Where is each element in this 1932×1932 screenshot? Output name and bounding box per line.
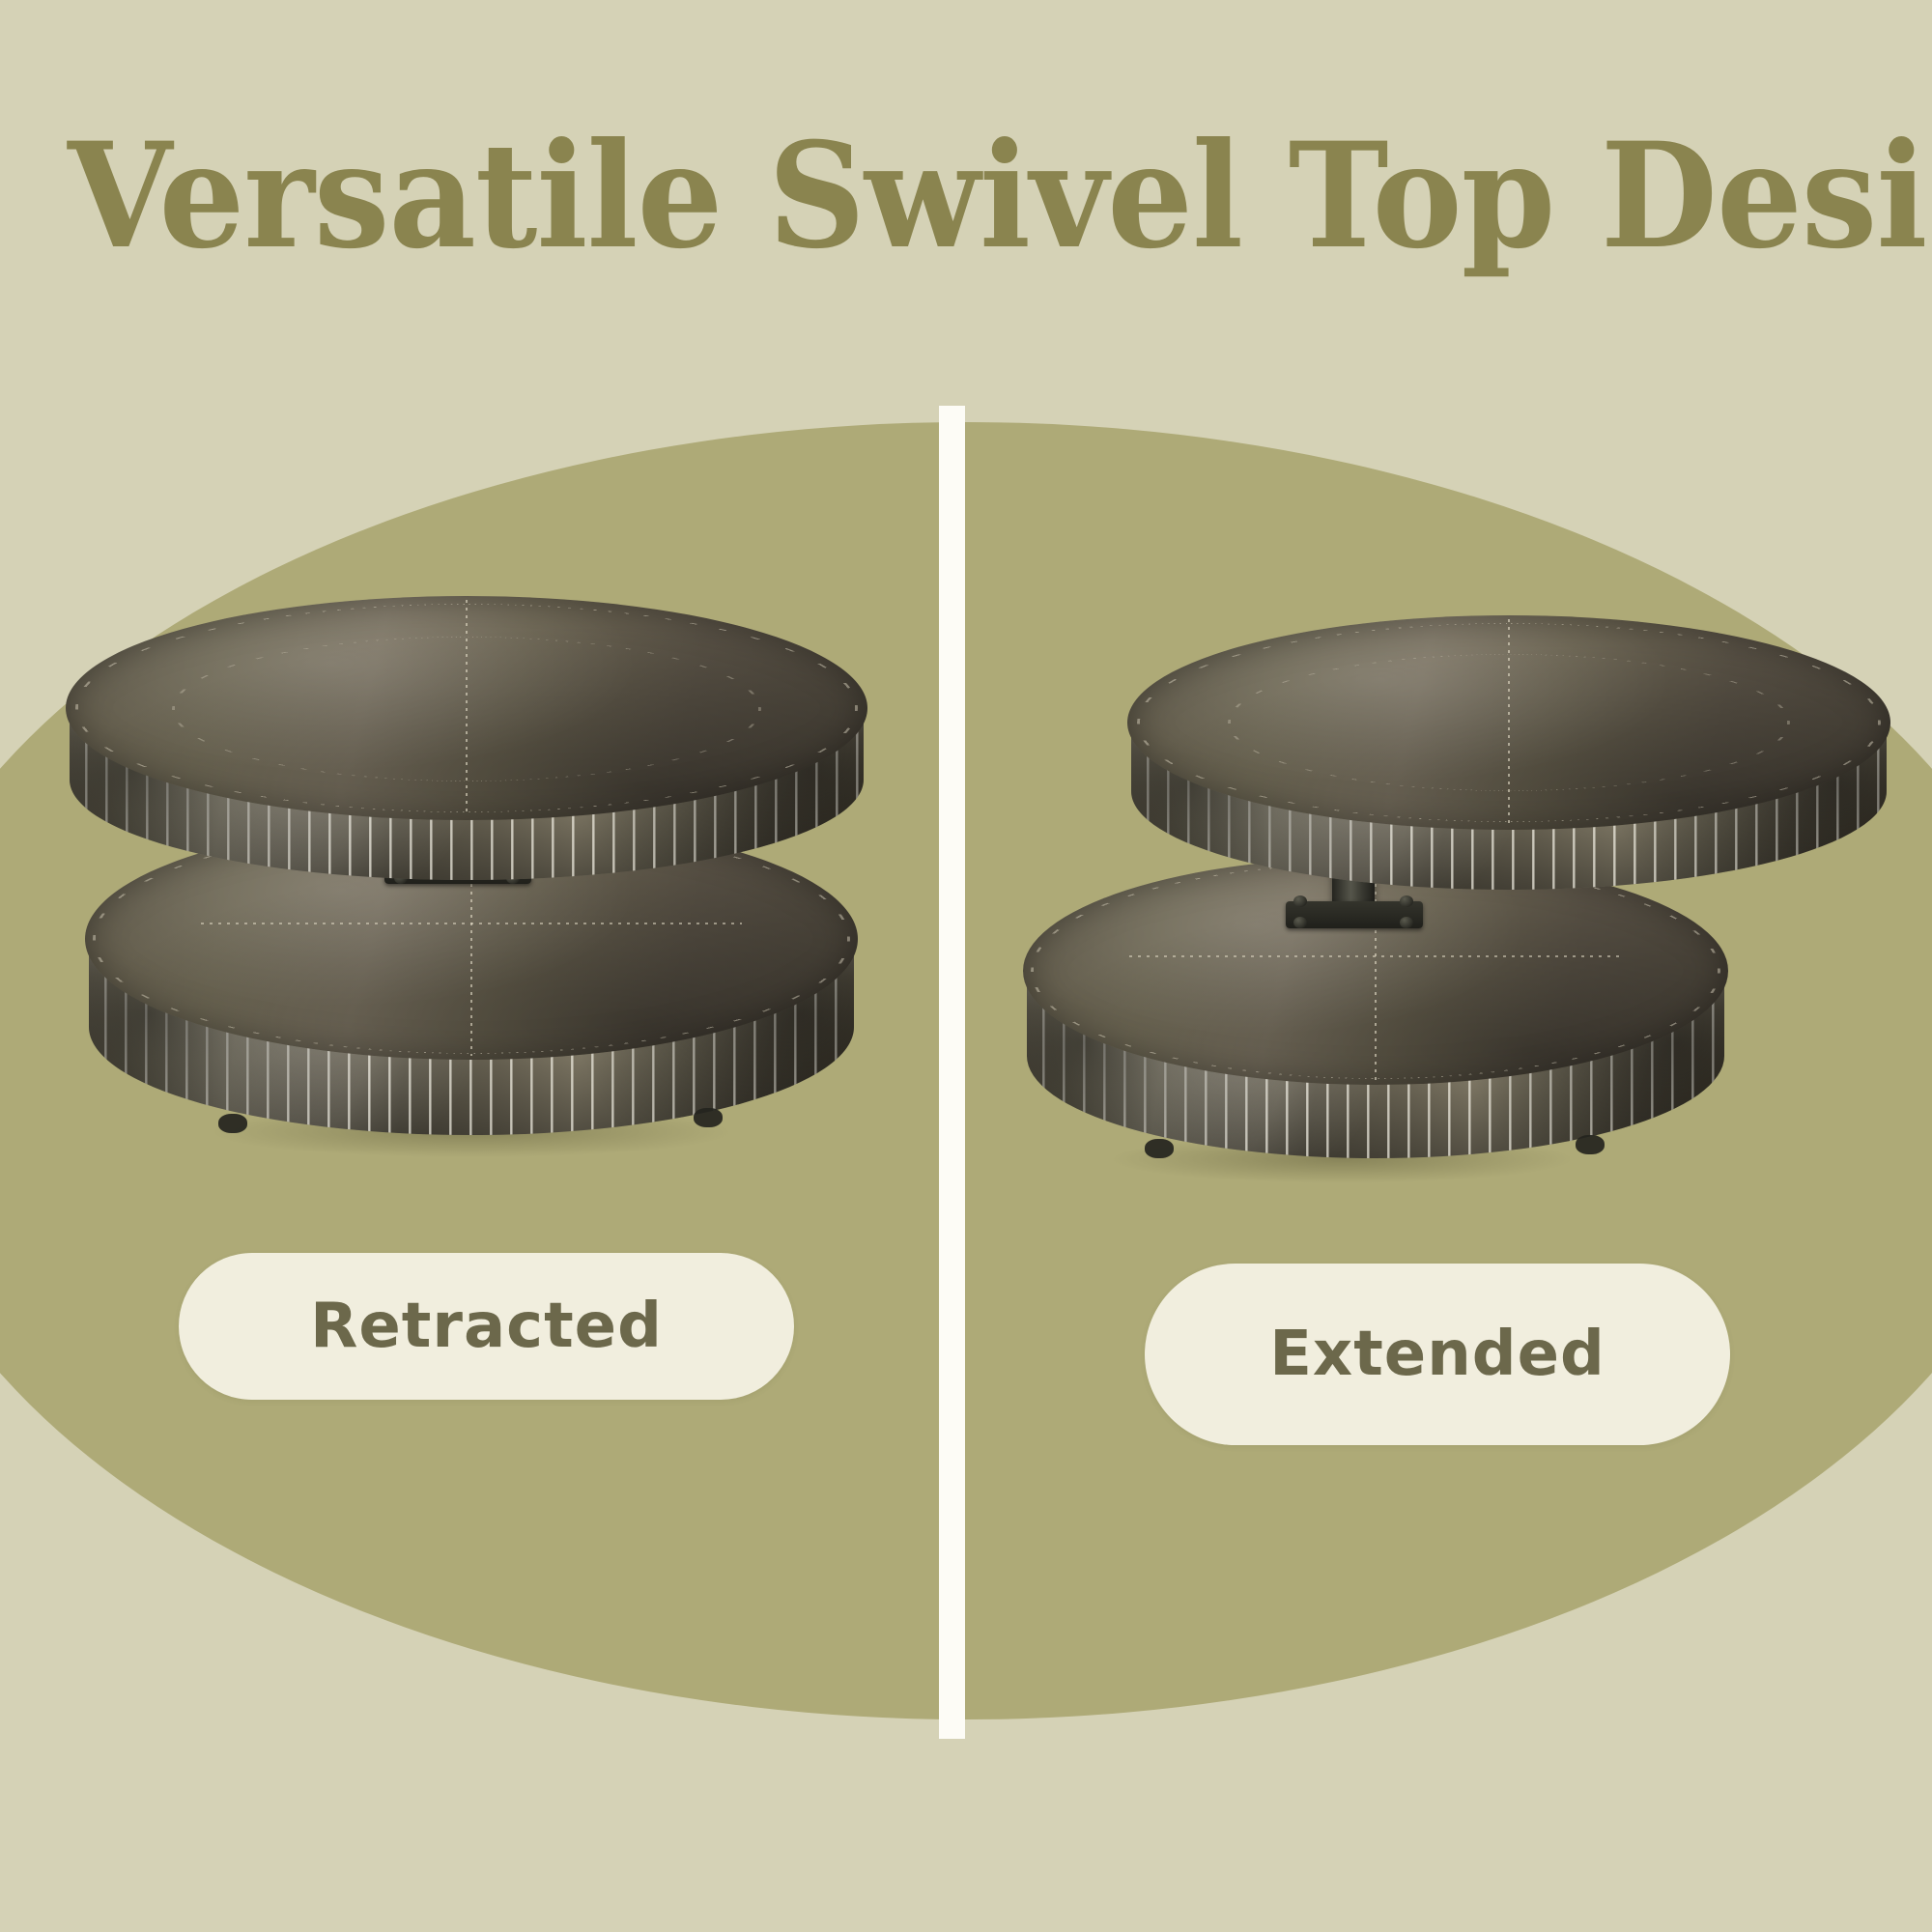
poster-canvas: Versatile Swivel Top Design: [0, 0, 1932, 1932]
status-badge-label: Retracted: [310, 1295, 663, 1357]
mount-bolt: [1400, 895, 1413, 907]
base-foot: [1576, 1135, 1605, 1154]
mount-bolt: [1293, 917, 1307, 928]
comparison-panel-extended: Extended: [965, 422, 1932, 1719]
mount-bolt: [1293, 895, 1307, 907]
base-foot: [1145, 1139, 1174, 1158]
status-badge-retracted[interactable]: Retracted: [179, 1253, 794, 1400]
page-title: Versatile Swivel Top Design: [68, 124, 1864, 269]
base-foot: [218, 1114, 247, 1133]
panel-divider: [939, 406, 965, 1739]
top-disc-face: [66, 596, 867, 820]
product-image-retracted: [66, 596, 887, 1176]
swivel-top-disc: [66, 596, 867, 886]
status-badge-extended[interactable]: Extended: [1145, 1264, 1730, 1445]
product-image-extended: [926, 615, 1892, 1195]
base-foot: [694, 1108, 723, 1127]
swivel-top-disc: [1127, 615, 1890, 895]
comparison-panel-retracted: Retracted: [0, 422, 939, 1719]
mount-bolt: [1400, 917, 1413, 928]
top-disc-face: [1127, 615, 1890, 830]
status-badge-label: Extended: [1269, 1323, 1605, 1385]
